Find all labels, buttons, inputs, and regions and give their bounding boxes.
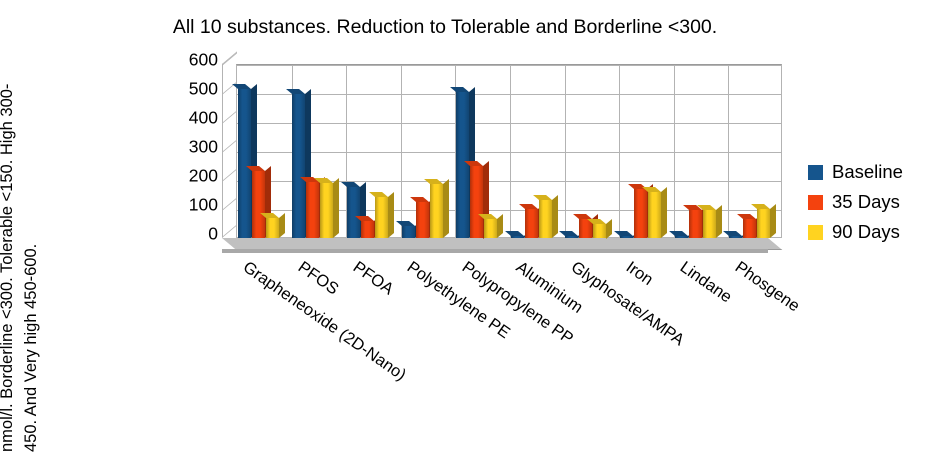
legend-color-swatch (808, 195, 823, 210)
legend-label: Baseline (832, 161, 903, 183)
x-axis-category-labels: Grapheneoxide (2D-Nano)PFOSPFOAPolyethyl… (0, 0, 925, 458)
legend-item-baseline[interactable]: Baseline (808, 157, 903, 187)
legend-item-90-days[interactable]: 90 Days (808, 217, 903, 247)
x-axis-label-iron: Iron (622, 258, 656, 290)
legend-item-35-days[interactable]: 35 Days (808, 187, 903, 217)
legend-color-swatch (808, 225, 823, 240)
legend-color-swatch (808, 165, 823, 180)
x-axis-label-phosgene: Phosgene (731, 258, 803, 316)
x-axis-label-lindane: Lindane (676, 258, 735, 307)
legend-label: 35 Days (832, 191, 900, 213)
legend-label: 90 Days (832, 221, 900, 243)
chart-legend: Baseline35 Days90 Days (808, 157, 903, 247)
x-axis-label-pfoa: PFOA (349, 258, 397, 299)
